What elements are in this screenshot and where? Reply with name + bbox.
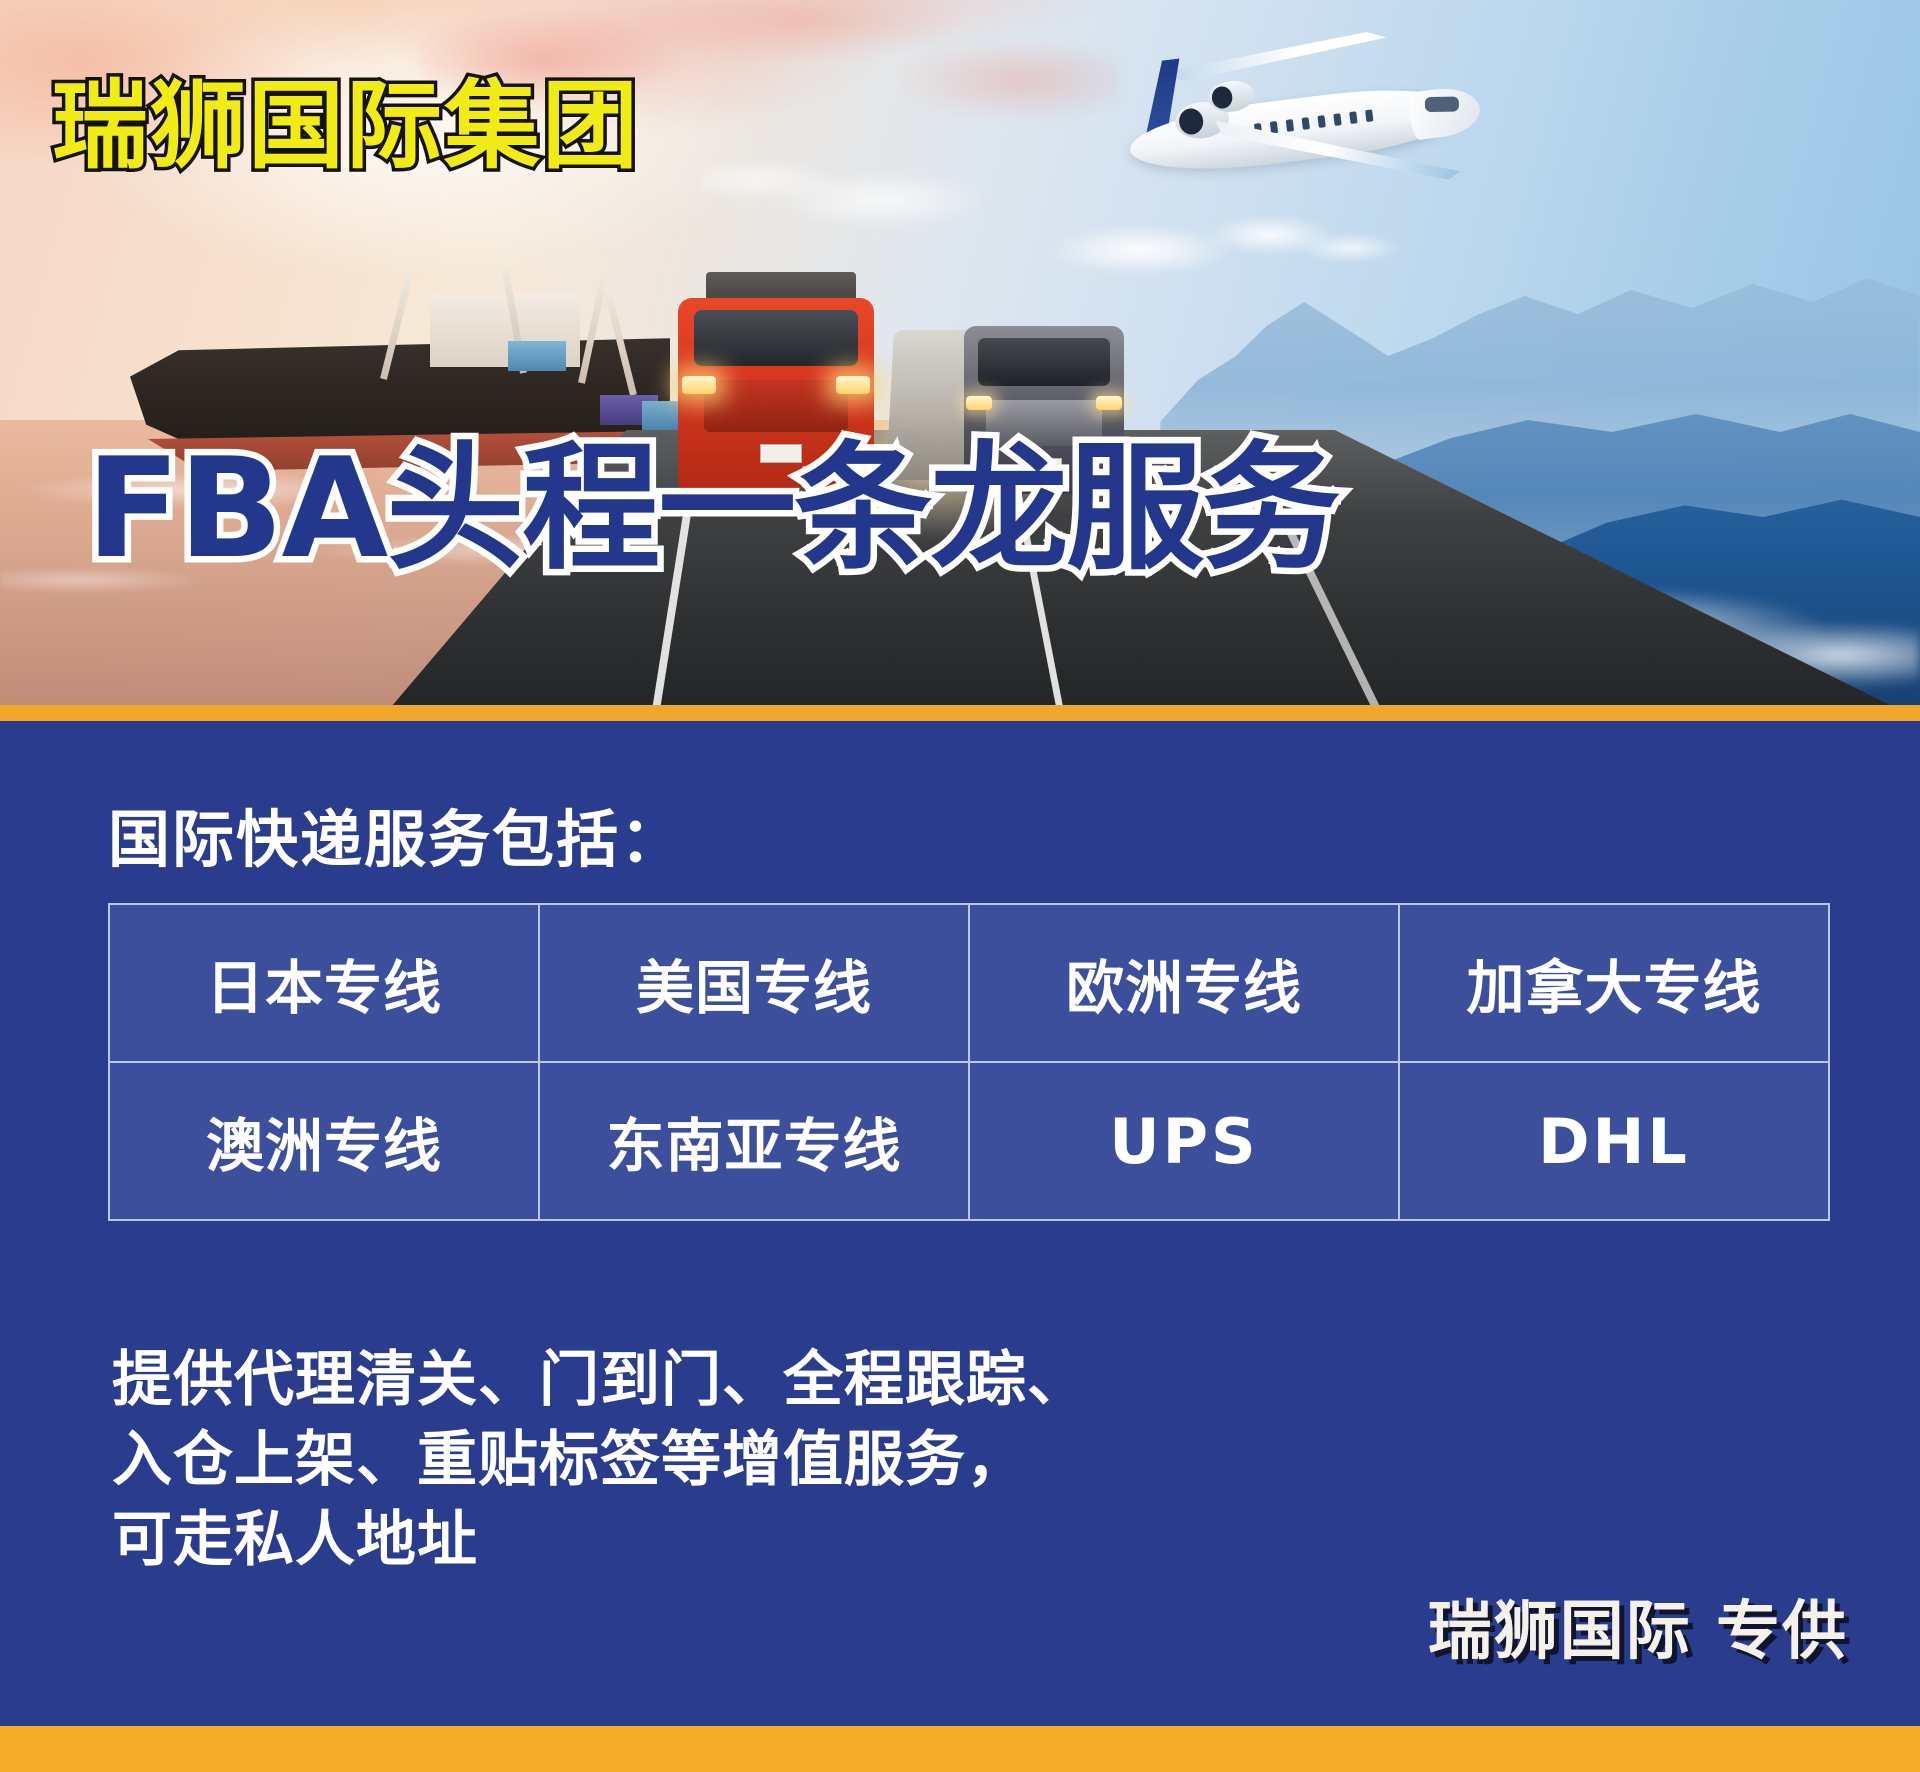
service-cell-japan[interactable]: 日本专线 <box>109 904 539 1062</box>
service-cell-canada[interactable]: 加拿大专线 <box>1399 904 1829 1062</box>
panel-title: 国际快递服务包括： <box>108 789 684 879</box>
service-cell-europe[interactable]: 欧洲专线 <box>969 904 1399 1062</box>
signature-text: 瑞狮国际 专供 <box>1428 1580 1848 1672</box>
service-cell-southeast-asia[interactable]: 东南亚专线 <box>539 1062 969 1220</box>
services-table: 日本专线 美国专线 欧洲专线 加拿大专线 澳洲专线 东南亚专线 UPS DHL <box>108 903 1830 1221</box>
table-row: 澳洲专线 东南亚专线 UPS DHL <box>109 1062 1829 1220</box>
blurb-line-2: 入仓上架、重贴标签等增值服务， <box>112 1421 1088 1501</box>
service-cell-dhl[interactable]: DHL <box>1399 1062 1829 1220</box>
hero-headline: FBA头程一条龙服务 <box>86 440 1338 578</box>
service-cell-usa[interactable]: 美国专线 <box>539 904 969 1062</box>
service-cell-ups[interactable]: UPS <box>969 1062 1399 1220</box>
hero-banner: 瑞狮国际集团 FBA头程一条龙服务 <box>0 0 1920 716</box>
gold-divider <box>0 705 1920 721</box>
blurb-line-1: 提供代理清关、门到门、全程跟踪、 <box>112 1341 1088 1421</box>
promo-poster: 瑞狮国际集团 FBA头程一条龙服务 国际快递服务包括： 日本专线 美国专线 欧洲… <box>0 0 1920 1772</box>
bottom-accent-bar <box>0 1726 1920 1772</box>
services-panel: 国际快递服务包括： 日本专线 美国专线 欧洲专线 加拿大专线 澳洲专线 东南亚专… <box>0 721 1920 1726</box>
company-logo: 瑞狮国际集团 <box>52 78 640 174</box>
value-added-services-text: 提供代理清关、门到门、全程跟踪、 入仓上架、重贴标签等增值服务， 可走私人地址 <box>112 1341 1088 1580</box>
blurb-line-3: 可走私人地址 <box>112 1501 1088 1581</box>
table-row: 日本专线 美国专线 欧洲专线 加拿大专线 <box>109 904 1829 1062</box>
service-cell-australia[interactable]: 澳洲专线 <box>109 1062 539 1220</box>
